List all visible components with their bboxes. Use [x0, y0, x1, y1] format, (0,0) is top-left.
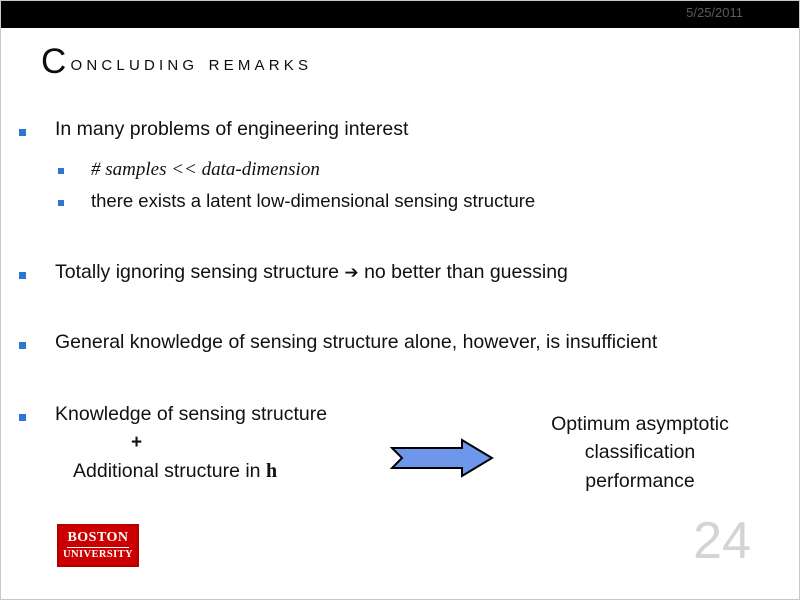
- sub-bullet-text-1b: there exists a latent low-dimensional se…: [91, 191, 535, 212]
- right-block-arrow-icon: [390, 438, 494, 478]
- page-number: 24: [693, 515, 751, 567]
- conclusion-line-2: classification: [506, 438, 774, 466]
- title-initial-letter: C: [41, 42, 70, 81]
- slide-canvas: 5/25/2011 Concluding remarks In many pro…: [0, 0, 800, 600]
- bullet-text-4: Knowledge of sensing structure: [55, 404, 327, 426]
- bullet-text-3: General knowledge of sensing structure a…: [55, 332, 657, 354]
- bullet-item-1: In many problems of engineering interest: [19, 119, 408, 141]
- sub-bullet-item-1b: there exists a latent low-dimensional se…: [58, 191, 535, 212]
- conclusion-line-1: Optimum asymptotic: [506, 410, 774, 438]
- square-bullet-icon: [19, 342, 26, 349]
- top-black-band: [1, 1, 800, 28]
- page-title: Concluding remarks: [41, 50, 312, 76]
- additional-structure-prefix: Additional structure in: [73, 460, 266, 482]
- conclusion-text: Optimum asymptotic classification perfor…: [506, 410, 774, 495]
- logo-line-boston: BOSTON: [67, 531, 128, 546]
- square-bullet-icon: [58, 200, 64, 206]
- plus-sign: +: [131, 432, 142, 454]
- square-bullet-icon: [19, 272, 26, 279]
- vector-h-symbol: h: [266, 460, 277, 482]
- logo-divider: [67, 547, 129, 548]
- bullet-item-2: Totally ignoring sensing structure ➔ no …: [19, 262, 568, 284]
- bullet-text-2: Totally ignoring sensing structure ➔ no …: [55, 262, 568, 284]
- sub-bullet-text-1a: # samples << data-dimension: [91, 159, 320, 180]
- bullet-item-4: Knowledge of sensing structure: [19, 404, 327, 426]
- right-arrow-icon: ➔: [344, 263, 358, 283]
- bullet-text-1: In many problems of engineering interest: [55, 119, 408, 141]
- additional-structure-line: Additional structure in h: [73, 460, 277, 483]
- bullet-item-3: General knowledge of sensing structure a…: [19, 332, 657, 354]
- title-rest: oncluding remarks: [70, 50, 312, 75]
- logo-line-university: UNIVERSITY: [63, 550, 133, 561]
- boston-university-logo: BOSTON UNIVERSITY: [57, 524, 139, 567]
- square-bullet-icon: [58, 168, 64, 174]
- bullet-text-2-after: no better than guessing: [359, 261, 568, 283]
- bullet-text-2-before: Totally ignoring sensing structure: [55, 261, 344, 283]
- slide-date: 5/25/2011: [686, 5, 743, 20]
- square-bullet-icon: [19, 414, 26, 421]
- conclusion-line-3: performance: [506, 467, 774, 495]
- square-bullet-icon: [19, 129, 26, 136]
- sub-bullet-item-1a: # samples << data-dimension: [58, 159, 320, 180]
